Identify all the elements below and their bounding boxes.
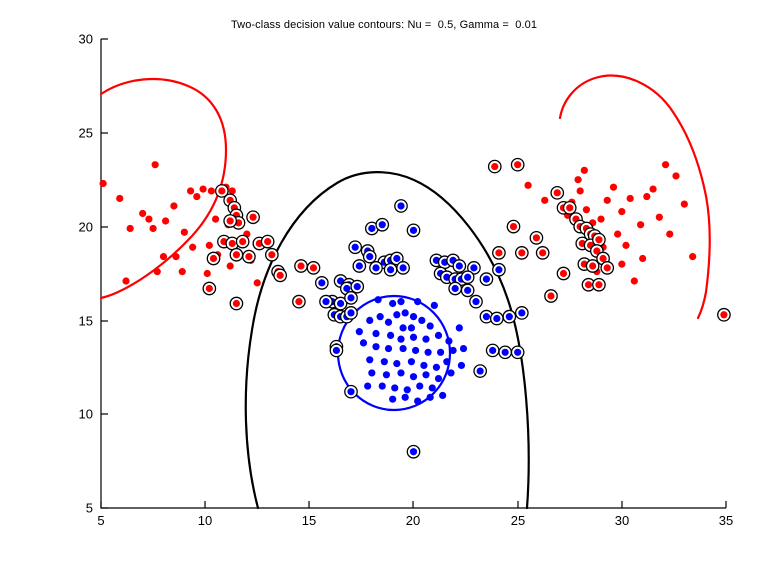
scatter-point	[502, 349, 509, 356]
scatter-point	[656, 214, 663, 221]
scatter-point	[720, 311, 727, 318]
scatter-point	[206, 242, 213, 249]
scatter-point	[506, 313, 513, 320]
scatter-point	[368, 369, 375, 376]
scatter-point	[597, 215, 604, 222]
scatter-point	[99, 180, 106, 187]
scatter-point	[233, 251, 240, 258]
scatter-point	[393, 360, 400, 367]
scatter-point	[574, 176, 581, 183]
scatter-point	[445, 337, 452, 344]
scatter-layer-blue-support-vectors	[316, 200, 528, 458]
scatter-point	[631, 277, 638, 284]
scatter-point	[149, 225, 156, 232]
scatter-point	[424, 349, 431, 356]
scatter-point	[227, 262, 234, 269]
scatter-point	[179, 268, 186, 275]
scatter-point	[181, 229, 188, 236]
scatter-point	[627, 195, 634, 202]
scatter-point	[643, 193, 650, 200]
scatter-point	[429, 384, 436, 391]
scatter-point	[268, 251, 275, 258]
scatter-point	[160, 253, 167, 260]
decision-contour-red-left	[101, 79, 226, 298]
scatter-point	[385, 319, 392, 326]
scatter-point	[414, 298, 421, 305]
scatter-point	[187, 187, 194, 194]
scatter-point	[218, 187, 225, 194]
scatter-point	[447, 369, 454, 376]
axes-box	[101, 39, 726, 508]
scatter-point	[464, 287, 471, 294]
scatter-point	[408, 358, 415, 365]
xtick-label-25: 25	[498, 513, 538, 528]
scatter-point	[227, 217, 234, 224]
scatter-point	[422, 371, 429, 378]
ytick-label-10: 10	[57, 407, 93, 422]
scatter-point	[412, 347, 419, 354]
scatter-point	[464, 274, 471, 281]
scatter-point	[277, 272, 284, 279]
scatter-point	[372, 343, 379, 350]
scatter-point	[343, 285, 350, 292]
scatter-point	[397, 336, 404, 343]
scatter-point	[399, 264, 406, 271]
scatter-point	[672, 172, 679, 179]
scatter-point	[431, 302, 438, 309]
scatter-point	[595, 281, 602, 288]
scatter-point	[418, 317, 425, 324]
scatter-point	[443, 358, 450, 365]
scatter-point	[618, 208, 625, 215]
scatter-point	[435, 375, 442, 382]
scatter-point	[377, 313, 384, 320]
scatter-point	[422, 336, 429, 343]
scatter-point	[372, 330, 379, 337]
scatter-point	[249, 214, 256, 221]
scatter-point	[162, 217, 169, 224]
scatter-point	[199, 185, 206, 192]
scatter-point	[541, 197, 548, 204]
scatter-point	[524, 182, 531, 189]
scatter-point	[420, 362, 427, 369]
xtick-label-30: 30	[602, 513, 642, 528]
scatter-point	[427, 322, 434, 329]
axis-ticks	[101, 39, 726, 508]
scatter-point	[689, 253, 696, 260]
scatter-point	[402, 394, 409, 401]
scatter-point	[666, 231, 673, 238]
scatter-point	[372, 264, 379, 271]
scatter-point	[347, 388, 354, 395]
scatter-point	[337, 300, 344, 307]
scatter-point	[295, 298, 302, 305]
scatter-point	[229, 187, 236, 194]
scatter-point	[449, 347, 456, 354]
scatter-point	[599, 255, 606, 262]
scatter-point	[681, 200, 688, 207]
scatter-plot-canvas	[0, 0, 768, 576]
scatter-point	[379, 382, 386, 389]
scatter-point	[639, 255, 646, 262]
scatter-point	[610, 184, 617, 191]
scatter-point	[360, 339, 367, 346]
scatter-point	[456, 262, 463, 269]
scatter-point	[127, 225, 134, 232]
scatter-point	[139, 210, 146, 217]
scatter-point	[310, 264, 317, 271]
scatter-point	[368, 225, 375, 232]
ytick-label-25: 25	[57, 126, 93, 141]
xtick-label-20: 20	[393, 513, 433, 528]
scatter-point	[318, 279, 325, 286]
scatter-point	[193, 193, 200, 200]
scatter-point	[393, 255, 400, 262]
scatter-point	[514, 161, 521, 168]
scatter-point	[433, 364, 440, 371]
scatter-point	[239, 238, 246, 245]
scatter-point	[389, 300, 396, 307]
scatter-point	[460, 345, 467, 352]
scatter-point	[404, 386, 411, 393]
scatter-point	[210, 255, 217, 262]
scatter-point	[437, 349, 444, 356]
scatter-point	[410, 448, 417, 455]
scatter-point	[387, 332, 394, 339]
scatter-point	[264, 238, 271, 245]
scatter-point	[410, 334, 417, 341]
scatter-point	[172, 253, 179, 260]
scatter-point	[387, 266, 394, 273]
scatter-point	[122, 277, 129, 284]
xtick-label-35: 35	[706, 513, 746, 528]
scatter-point	[452, 285, 459, 292]
scatter-point	[254, 279, 261, 286]
scatter-point	[495, 249, 502, 256]
xtick-label-5: 5	[81, 513, 121, 528]
scatter-point	[458, 362, 465, 369]
scatter-point	[539, 249, 546, 256]
scatter-point	[614, 231, 621, 238]
scatter-point	[414, 397, 421, 404]
scatter-point	[154, 268, 161, 275]
ytick-label-15: 15	[57, 314, 93, 329]
scatter-point	[347, 294, 354, 301]
scatter-layer-blue-plain	[356, 296, 467, 405]
scatter-point	[472, 298, 479, 305]
scatter-point	[483, 313, 490, 320]
scatter-point	[410, 227, 417, 234]
scatter-point	[347, 309, 354, 316]
scatter-point	[618, 261, 625, 268]
scatter-point	[170, 202, 177, 209]
scatter-point	[397, 202, 404, 209]
scatter-point	[604, 264, 611, 271]
scatter-point	[477, 367, 484, 374]
scatter-point	[354, 283, 361, 290]
scatter-point	[397, 298, 404, 305]
scatter-point	[491, 163, 498, 170]
scatter-point	[364, 382, 371, 389]
scatter-point	[595, 236, 602, 243]
scatter-point	[416, 382, 423, 389]
scatter-point	[495, 266, 502, 273]
matlab-figure-window: Two-class decision value contours: Nu = …	[0, 0, 768, 576]
scatter-point	[366, 253, 373, 260]
scatter-point	[408, 324, 415, 331]
scatter-point	[577, 187, 584, 194]
scatter-point	[581, 167, 588, 174]
scatter-point	[662, 161, 669, 168]
scatter-point	[385, 345, 392, 352]
scatter-point	[208, 187, 215, 194]
scatter-point	[649, 185, 656, 192]
scatter-point	[204, 270, 211, 277]
scatter-point	[410, 313, 417, 320]
scatter-point	[383, 371, 390, 378]
scatter-point	[352, 244, 359, 251]
scatter-point	[589, 262, 596, 269]
scatter-point	[379, 221, 386, 228]
scatter-point	[410, 373, 417, 380]
scatter-point	[514, 349, 521, 356]
scatter-point	[245, 253, 252, 260]
scatter-point	[189, 244, 196, 251]
ytick-label-20: 20	[57, 220, 93, 235]
scatter-point	[116, 195, 123, 202]
scatter-point	[439, 392, 446, 399]
scatter-point	[391, 384, 398, 391]
scatter-point	[145, 215, 152, 222]
scatter-point	[583, 206, 590, 213]
scatter-point	[399, 345, 406, 352]
scatter-point	[510, 223, 517, 230]
scatter-point	[518, 309, 525, 316]
scatter-point	[560, 270, 567, 277]
scatter-point	[566, 204, 573, 211]
scatter-point	[374, 296, 381, 303]
scatter-point	[152, 161, 159, 168]
ytick-label-30: 30	[57, 32, 93, 47]
scatter-point	[366, 317, 373, 324]
scatter-point	[389, 396, 396, 403]
scatter-point	[356, 262, 363, 269]
scatter-point	[393, 311, 400, 318]
scatter-point	[399, 324, 406, 331]
scatter-point	[206, 285, 213, 292]
scatter-point	[366, 356, 373, 363]
scatter-point	[518, 249, 525, 256]
scatter-point	[333, 347, 340, 354]
scatter-point	[637, 221, 644, 228]
scatter-point	[622, 242, 629, 249]
scatter-point	[427, 394, 434, 401]
scatter-point	[493, 315, 500, 322]
scatter-point	[435, 332, 442, 339]
scatter-point	[547, 292, 554, 299]
scatter-point	[381, 358, 388, 365]
scatter-point	[470, 264, 477, 271]
scatter-point	[489, 347, 496, 354]
scatter-point	[456, 324, 463, 331]
scatter-point	[483, 276, 490, 283]
scatter-point	[297, 262, 304, 269]
scatter-point	[356, 328, 363, 335]
scatter-point	[322, 298, 329, 305]
scatter-point	[397, 369, 404, 376]
scatter-point	[212, 215, 219, 222]
scatter-point	[585, 281, 592, 288]
scatter-point	[604, 197, 611, 204]
scatter-point	[233, 300, 240, 307]
scatter-point	[554, 189, 561, 196]
scatter-point	[229, 240, 236, 247]
scatter-point	[533, 234, 540, 241]
xtick-label-15: 15	[289, 513, 329, 528]
scatter-point	[402, 309, 409, 316]
xtick-label-10: 10	[185, 513, 225, 528]
